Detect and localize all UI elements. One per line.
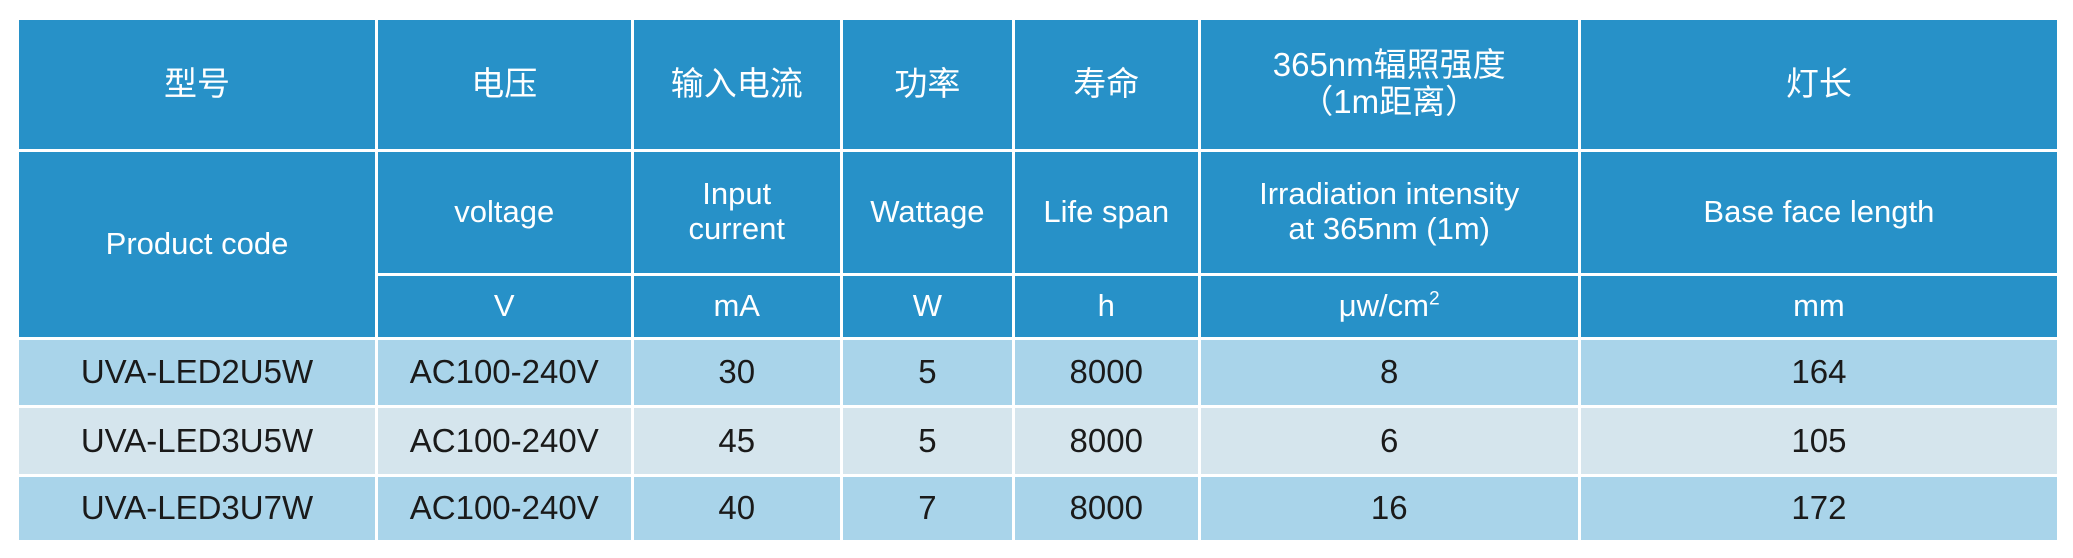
header-row-english: Product code voltage Input current Watta… <box>19 152 2057 276</box>
table-row: UVA-LED3U5W AC100-240V 45 5 8000 6 105 <box>19 408 2057 476</box>
cell-life: 8000 <box>1015 408 1201 476</box>
unit-voltage: V <box>378 276 634 341</box>
spec-table-container: 型号 电压 输入电流 功率 寿命 365nm辐照强度 （1m距离） 灯长 Pro… <box>19 20 2057 540</box>
header-row-chinese: 型号 电压 输入电流 功率 寿命 365nm辐照强度 （1m距离） 灯长 <box>19 20 2057 152</box>
header-cn-life: 寿命 <box>1015 20 1201 152</box>
cell-product: UVA-LED3U7W <box>19 477 378 540</box>
header-cn-product: 型号 <box>19 20 378 152</box>
cell-current: 45 <box>634 408 843 476</box>
cell-length: 105 <box>1581 408 2057 476</box>
header-cn-current: 输入电流 <box>634 20 843 152</box>
cell-current: 40 <box>634 477 843 540</box>
header-en-irradiation: Irradiation intensity at 365nm (1m) <box>1201 152 1581 276</box>
cell-life: 8000 <box>1015 477 1201 540</box>
cell-wattage: 5 <box>843 340 1015 408</box>
cell-life: 8000 <box>1015 340 1201 408</box>
header-en-voltage: voltage <box>378 152 634 276</box>
cell-product: UVA-LED2U5W <box>19 340 378 408</box>
table-row: UVA-LED3U7W AC100-240V 40 7 8000 16 172 <box>19 477 2057 540</box>
cell-voltage: AC100-240V <box>378 408 634 476</box>
cell-voltage: AC100-240V <box>378 340 634 408</box>
header-en-life: Life span <box>1015 152 1201 276</box>
cell-product: UVA-LED3U5W <box>19 408 378 476</box>
header-cn-length: 灯长 <box>1581 20 2057 152</box>
unit-irradiation: μw/cm2 <box>1201 276 1581 341</box>
product-spec-table: 型号 电压 输入电流 功率 寿命 365nm辐照强度 （1m距离） 灯长 Pro… <box>19 20 2057 540</box>
cell-wattage: 5 <box>843 408 1015 476</box>
cell-irradiation: 16 <box>1201 477 1581 540</box>
header-en-length: Base face length <box>1581 152 2057 276</box>
header-en-current: Input current <box>634 152 843 276</box>
cell-irradiation: 8 <box>1201 340 1581 408</box>
unit-wattage: W <box>843 276 1015 341</box>
cell-voltage: AC100-240V <box>378 477 634 540</box>
table-row: UVA-LED2U5W AC100-240V 30 5 8000 8 164 <box>19 340 2057 408</box>
cell-irradiation: 6 <box>1201 408 1581 476</box>
header-en-wattage: Wattage <box>843 152 1015 276</box>
header-cn-wattage: 功率 <box>843 20 1015 152</box>
unit-current: mA <box>634 276 843 341</box>
cell-length: 164 <box>1581 340 2057 408</box>
unit-irradiation-superscript: 2 <box>1429 289 1440 310</box>
header-en-product: Product code <box>19 152 378 340</box>
cell-length: 172 <box>1581 477 2057 540</box>
cell-wattage: 7 <box>843 477 1015 540</box>
cell-current: 30 <box>634 340 843 408</box>
header-cn-voltage: 电压 <box>378 20 634 152</box>
unit-life: h <box>1015 276 1201 341</box>
unit-length: mm <box>1581 276 2057 341</box>
header-cn-irradiation: 365nm辐照强度 （1m距离） <box>1201 20 1581 152</box>
